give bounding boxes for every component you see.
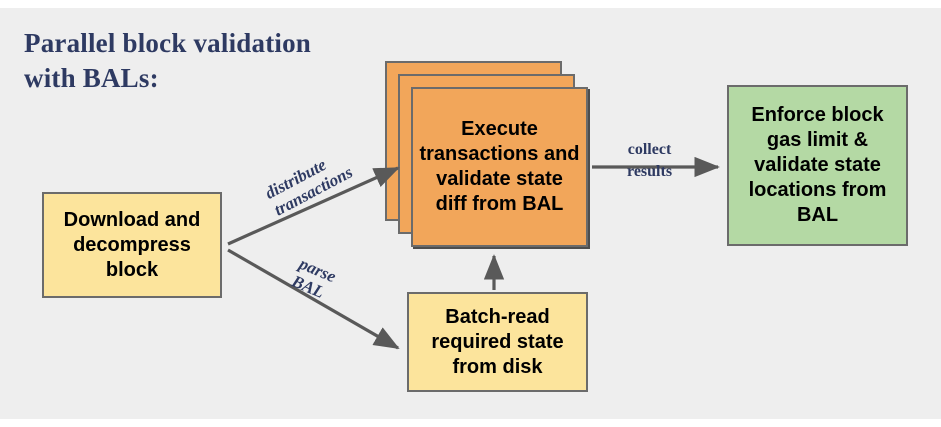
- bottom-edge-strip: [0, 419, 941, 427]
- node-batch-read-required-state[interactable]: Batch-read required state from disk: [407, 292, 588, 392]
- edge-label-collect-results: collect results: [627, 139, 672, 183]
- node-execute-label: Execute transactions and validate state …: [419, 117, 580, 217]
- edge-label-collect-line-1: collect: [627, 139, 672, 161]
- node-enforce-label: Enforce block gas limit & validate state…: [735, 103, 900, 228]
- edge-label-parse-bal: parse BAL: [289, 254, 339, 304]
- node-enforce-block-gas-limit[interactable]: Enforce block gas limit & validate state…: [727, 85, 908, 246]
- node-batchread-label: Batch-read required state from disk: [415, 305, 580, 380]
- diagram-title-line-2: with BALs:: [24, 61, 404, 96]
- node-download-and-decompress-block[interactable]: Download and decompress block: [42, 192, 222, 298]
- node-download-label: Download and decompress block: [50, 208, 214, 283]
- edge-label-collect-line-2: results: [627, 161, 672, 183]
- edge-label-distribute-transactions: distribute transactions: [262, 146, 356, 220]
- top-edge-strip: [0, 0, 941, 8]
- diagram-title: Parallel block validation with BALs:: [24, 26, 404, 96]
- diagram-title-line-1: Parallel block validation: [24, 26, 404, 61]
- node-execute-transactions[interactable]: Execute transactions and validate state …: [411, 87, 588, 247]
- diagram-canvas: Parallel block validation with BALs: Dow…: [0, 0, 941, 427]
